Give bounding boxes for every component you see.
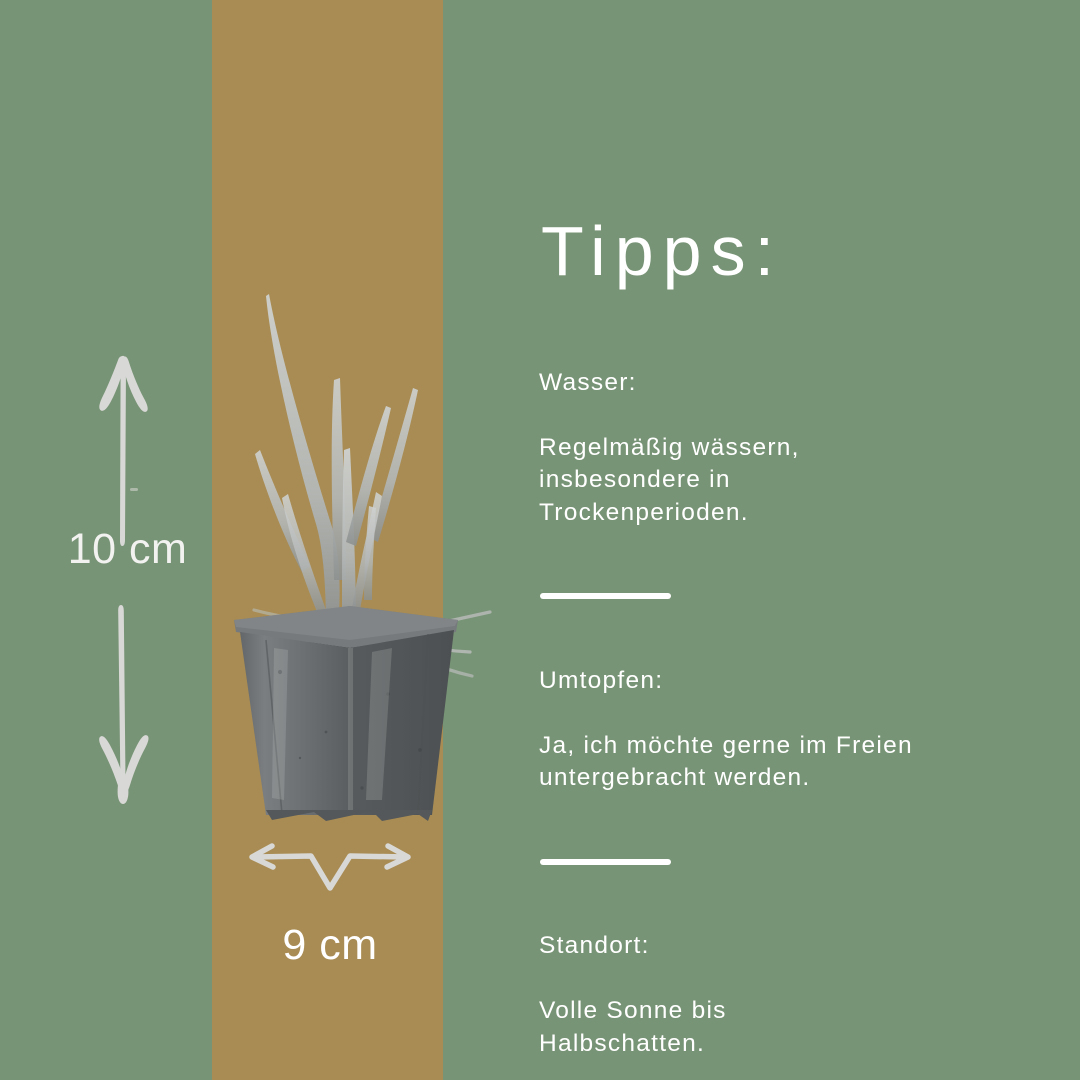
tip-body-wasser: Regelmäßig wässern, insbesondere in Troc… bbox=[539, 432, 1039, 530]
divider-2 bbox=[540, 859, 671, 865]
tip-item-standort: Standort: Volle Sonne bis Halbschatten. bbox=[539, 898, 1039, 1080]
tip-item-umtopfen: Umtopfen: Ja, ich möchte gerne im Freien… bbox=[539, 632, 1039, 827]
product-info-card: 10 cm 9 cm bbox=[0, 0, 1080, 1080]
height-label: 10 cm bbox=[30, 528, 225, 571]
tips-panel: Tipps: Wasser: Regelmäßig wässern, insbe… bbox=[539, 216, 1039, 1080]
tip-heading-umtopfen: Umtopfen: bbox=[539, 665, 1039, 698]
product-image bbox=[222, 280, 512, 825]
page-title: Tipps: bbox=[541, 216, 1039, 286]
tip-body-umtopfen: Ja, ich möchte gerne im Freien untergebr… bbox=[539, 730, 1039, 795]
width-label: 9 cm bbox=[232, 924, 428, 967]
width-arrow-icon bbox=[238, 840, 423, 900]
tip-item-wasser: Wasser: Regelmäßig wässern, insbesondere… bbox=[539, 334, 1039, 562]
tip-heading-standort: Standort: bbox=[539, 930, 1039, 963]
tip-heading-wasser: Wasser: bbox=[539, 367, 1039, 400]
height-arrow-icon bbox=[78, 340, 173, 810]
divider-1 bbox=[540, 593, 671, 599]
tip-body-standort: Volle Sonne bis Halbschatten. bbox=[539, 995, 1039, 1060]
